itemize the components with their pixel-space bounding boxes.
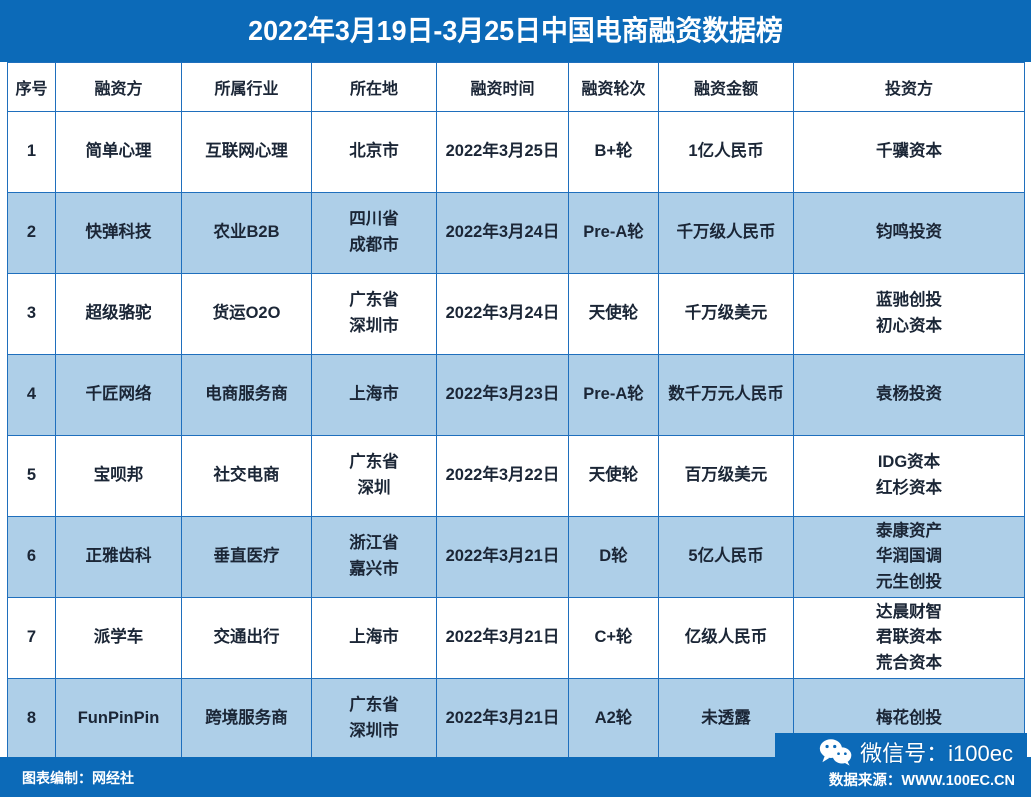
cell-financing-amount: 百万级美元	[659, 436, 794, 517]
column-header-investor: 投资方	[794, 63, 1025, 112]
column-header-party: 融资方	[56, 63, 182, 112]
cell-industry: 社交电商	[182, 436, 312, 517]
cell-location: 上海市	[312, 598, 437, 679]
location-line: 广东省	[314, 288, 434, 314]
cell-financing-date: 2022年3月24日	[437, 193, 569, 274]
cell-location: 广东省深圳市	[312, 274, 437, 355]
wechat-icon	[819, 738, 853, 766]
column-header-location: 所在地	[312, 63, 437, 112]
cell-investors: 达晨财智君联资本荒合资本	[794, 598, 1025, 679]
page-title: 2022年3月19日-3月25日中国电商融资数据榜	[248, 17, 783, 45]
cell-location: 上海市	[312, 355, 437, 436]
location-line: 北京市	[314, 139, 434, 165]
cell-industry: 货运O2O	[182, 274, 312, 355]
cell-location: 广东省深圳市	[312, 679, 437, 760]
table-row: 3超级骆驼货运O2O广东省深圳市2022年3月24日天使轮千万级美元蓝驰创投初心…	[8, 274, 1025, 355]
cell-financing-round: A2轮	[569, 679, 659, 760]
financing-table-container: 序号融资方所属行业所在地融资时间融资轮次融资金额投资方 1简单心理互联网心理北京…	[7, 62, 1024, 757]
cell-industry: 互联网心理	[182, 112, 312, 193]
wechat-badge-label: 微信号：i100ec	[860, 736, 1013, 768]
cell-investors: IDG资本红杉资本	[794, 436, 1025, 517]
table-header: 序号融资方所属行业所在地融资时间融资轮次融资金额投资方	[8, 63, 1025, 112]
cell-index: 8	[8, 679, 56, 760]
cell-index: 3	[8, 274, 56, 355]
cell-index: 6	[8, 517, 56, 598]
column-header-round: 融资轮次	[569, 63, 659, 112]
cell-financing-round: Pre-A轮	[569, 355, 659, 436]
title-bar: 2022年3月19日-3月25日中国电商融资数据榜	[0, 0, 1031, 62]
cell-financing-party: 宝呗邦	[56, 436, 182, 517]
location-line: 上海市	[314, 625, 434, 651]
cell-financing-round: Pre-A轮	[569, 193, 659, 274]
location-line: 嘉兴市	[314, 557, 434, 583]
cell-financing-round: 天使轮	[569, 436, 659, 517]
investor-line: IDG资本	[796, 450, 1022, 476]
cell-location: 广东省深圳	[312, 436, 437, 517]
investor-line: 梅花创投	[796, 706, 1022, 732]
location-line: 深圳市	[314, 719, 434, 745]
footer-data-source: 数据来源：WWW.100EC.CN	[829, 769, 1015, 790]
financing-table: 序号融资方所属行业所在地融资时间融资轮次融资金额投资方 1简单心理互联网心理北京…	[7, 62, 1025, 760]
cell-financing-party: 超级骆驼	[56, 274, 182, 355]
cell-financing-date: 2022年3月25日	[437, 112, 569, 193]
table-row: 5宝呗邦社交电商广东省深圳2022年3月22日天使轮百万级美元IDG资本红杉资本	[8, 436, 1025, 517]
investor-line: 达晨财智	[796, 600, 1022, 626]
cell-industry: 垂直医疗	[182, 517, 312, 598]
location-line: 成都市	[314, 233, 434, 259]
cell-financing-date: 2022年3月23日	[437, 355, 569, 436]
column-header-index: 序号	[8, 63, 56, 112]
location-line: 深圳市	[314, 314, 434, 340]
investor-line: 初心资本	[796, 314, 1022, 340]
investor-line: 钧鸣投资	[796, 220, 1022, 246]
location-line: 广东省	[314, 693, 434, 719]
cell-financing-amount: 5亿人民币	[659, 517, 794, 598]
cell-financing-amount: 1亿人民币	[659, 112, 794, 193]
location-line: 上海市	[314, 382, 434, 408]
cell-investors: 千骥资本	[794, 112, 1025, 193]
cell-financing-date: 2022年3月24日	[437, 274, 569, 355]
cell-investors: 钧鸣投资	[794, 193, 1025, 274]
cell-index: 5	[8, 436, 56, 517]
investor-line: 千骥资本	[796, 139, 1022, 165]
cell-index: 1	[8, 112, 56, 193]
cell-financing-amount: 未透露	[659, 679, 794, 760]
cell-location: 四川省成都市	[312, 193, 437, 274]
cell-financing-party: 正雅齿科	[56, 517, 182, 598]
location-line: 深圳	[314, 476, 434, 502]
cell-financing-date: 2022年3月21日	[437, 598, 569, 679]
table-row: 7派学车交通出行上海市2022年3月21日C+轮亿级人民币达晨财智君联资本荒合资…	[8, 598, 1025, 679]
cell-index: 4	[8, 355, 56, 436]
column-header-industry: 所属行业	[182, 63, 312, 112]
cell-investors: 袁杨投资	[794, 355, 1025, 436]
footer-produced-by: 图表编制：网经社	[22, 768, 134, 788]
cell-index: 2	[8, 193, 56, 274]
cell-financing-amount: 亿级人民币	[659, 598, 794, 679]
cell-index: 7	[8, 598, 56, 679]
table-row: 6正雅齿科垂直医疗浙江省嘉兴市2022年3月21日D轮5亿人民币泰康资产华润国调…	[8, 517, 1025, 598]
location-line: 广东省	[314, 450, 434, 476]
cell-location: 浙江省嘉兴市	[312, 517, 437, 598]
table-row: 2快弹科技农业B2B四川省成都市2022年3月24日Pre-A轮千万级人民币钧鸣…	[8, 193, 1025, 274]
cell-industry: 跨境服务商	[182, 679, 312, 760]
cell-financing-party: 简单心理	[56, 112, 182, 193]
cell-financing-party: FunPinPin	[56, 679, 182, 760]
cell-financing-amount: 千万级美元	[659, 274, 794, 355]
cell-investors: 泰康资产华润国调元生创投	[794, 517, 1025, 598]
cell-location: 北京市	[312, 112, 437, 193]
investor-line: 泰康资产	[796, 519, 1022, 545]
cell-financing-party: 千匠网络	[56, 355, 182, 436]
investor-line: 蓝驰创投	[796, 288, 1022, 314]
investor-line: 袁杨投资	[796, 382, 1022, 408]
cell-industry: 电商服务商	[182, 355, 312, 436]
column-header-amount: 融资金额	[659, 63, 794, 112]
investor-line: 元生创投	[796, 570, 1022, 596]
location-line: 浙江省	[314, 531, 434, 557]
cell-financing-round: D轮	[569, 517, 659, 598]
investor-line: 荒合资本	[796, 651, 1022, 677]
cell-financing-round: 天使轮	[569, 274, 659, 355]
cell-financing-date: 2022年3月21日	[437, 517, 569, 598]
cell-industry: 交通出行	[182, 598, 312, 679]
cell-financing-round: C+轮	[569, 598, 659, 679]
column-header-date: 融资时间	[437, 63, 569, 112]
cell-financing-date: 2022年3月21日	[437, 679, 569, 760]
table-body: 1简单心理互联网心理北京市2022年3月25日B+轮1亿人民币千骥资本2快弹科技…	[8, 112, 1025, 760]
cell-financing-amount: 千万级人民币	[659, 193, 794, 274]
cell-industry: 农业B2B	[182, 193, 312, 274]
cell-financing-party: 快弹科技	[56, 193, 182, 274]
cell-financing-round: B+轮	[569, 112, 659, 193]
investor-line: 华润国调	[796, 544, 1022, 570]
wechat-badge: 微信号：i100ec	[813, 733, 1021, 771]
cell-financing-amount: 数千万元人民币	[659, 355, 794, 436]
infographic-page: 2022年3月19日-3月25日中国电商融资数据榜 EDT 电数宝 电商大数据 …	[0, 0, 1031, 797]
location-line: 四川省	[314, 207, 434, 233]
cell-financing-party: 派学车	[56, 598, 182, 679]
cell-investors: 蓝驰创投初心资本	[794, 274, 1025, 355]
table-row: 4千匠网络电商服务商上海市2022年3月23日Pre-A轮数千万元人民币袁杨投资	[8, 355, 1025, 436]
investor-line: 红杉资本	[796, 476, 1022, 502]
table-row: 1简单心理互联网心理北京市2022年3月25日B+轮1亿人民币千骥资本	[8, 112, 1025, 193]
investor-line: 君联资本	[796, 625, 1022, 651]
cell-financing-date: 2022年3月22日	[437, 436, 569, 517]
table-header-row: 序号融资方所属行业所在地融资时间融资轮次融资金额投资方	[8, 63, 1025, 112]
